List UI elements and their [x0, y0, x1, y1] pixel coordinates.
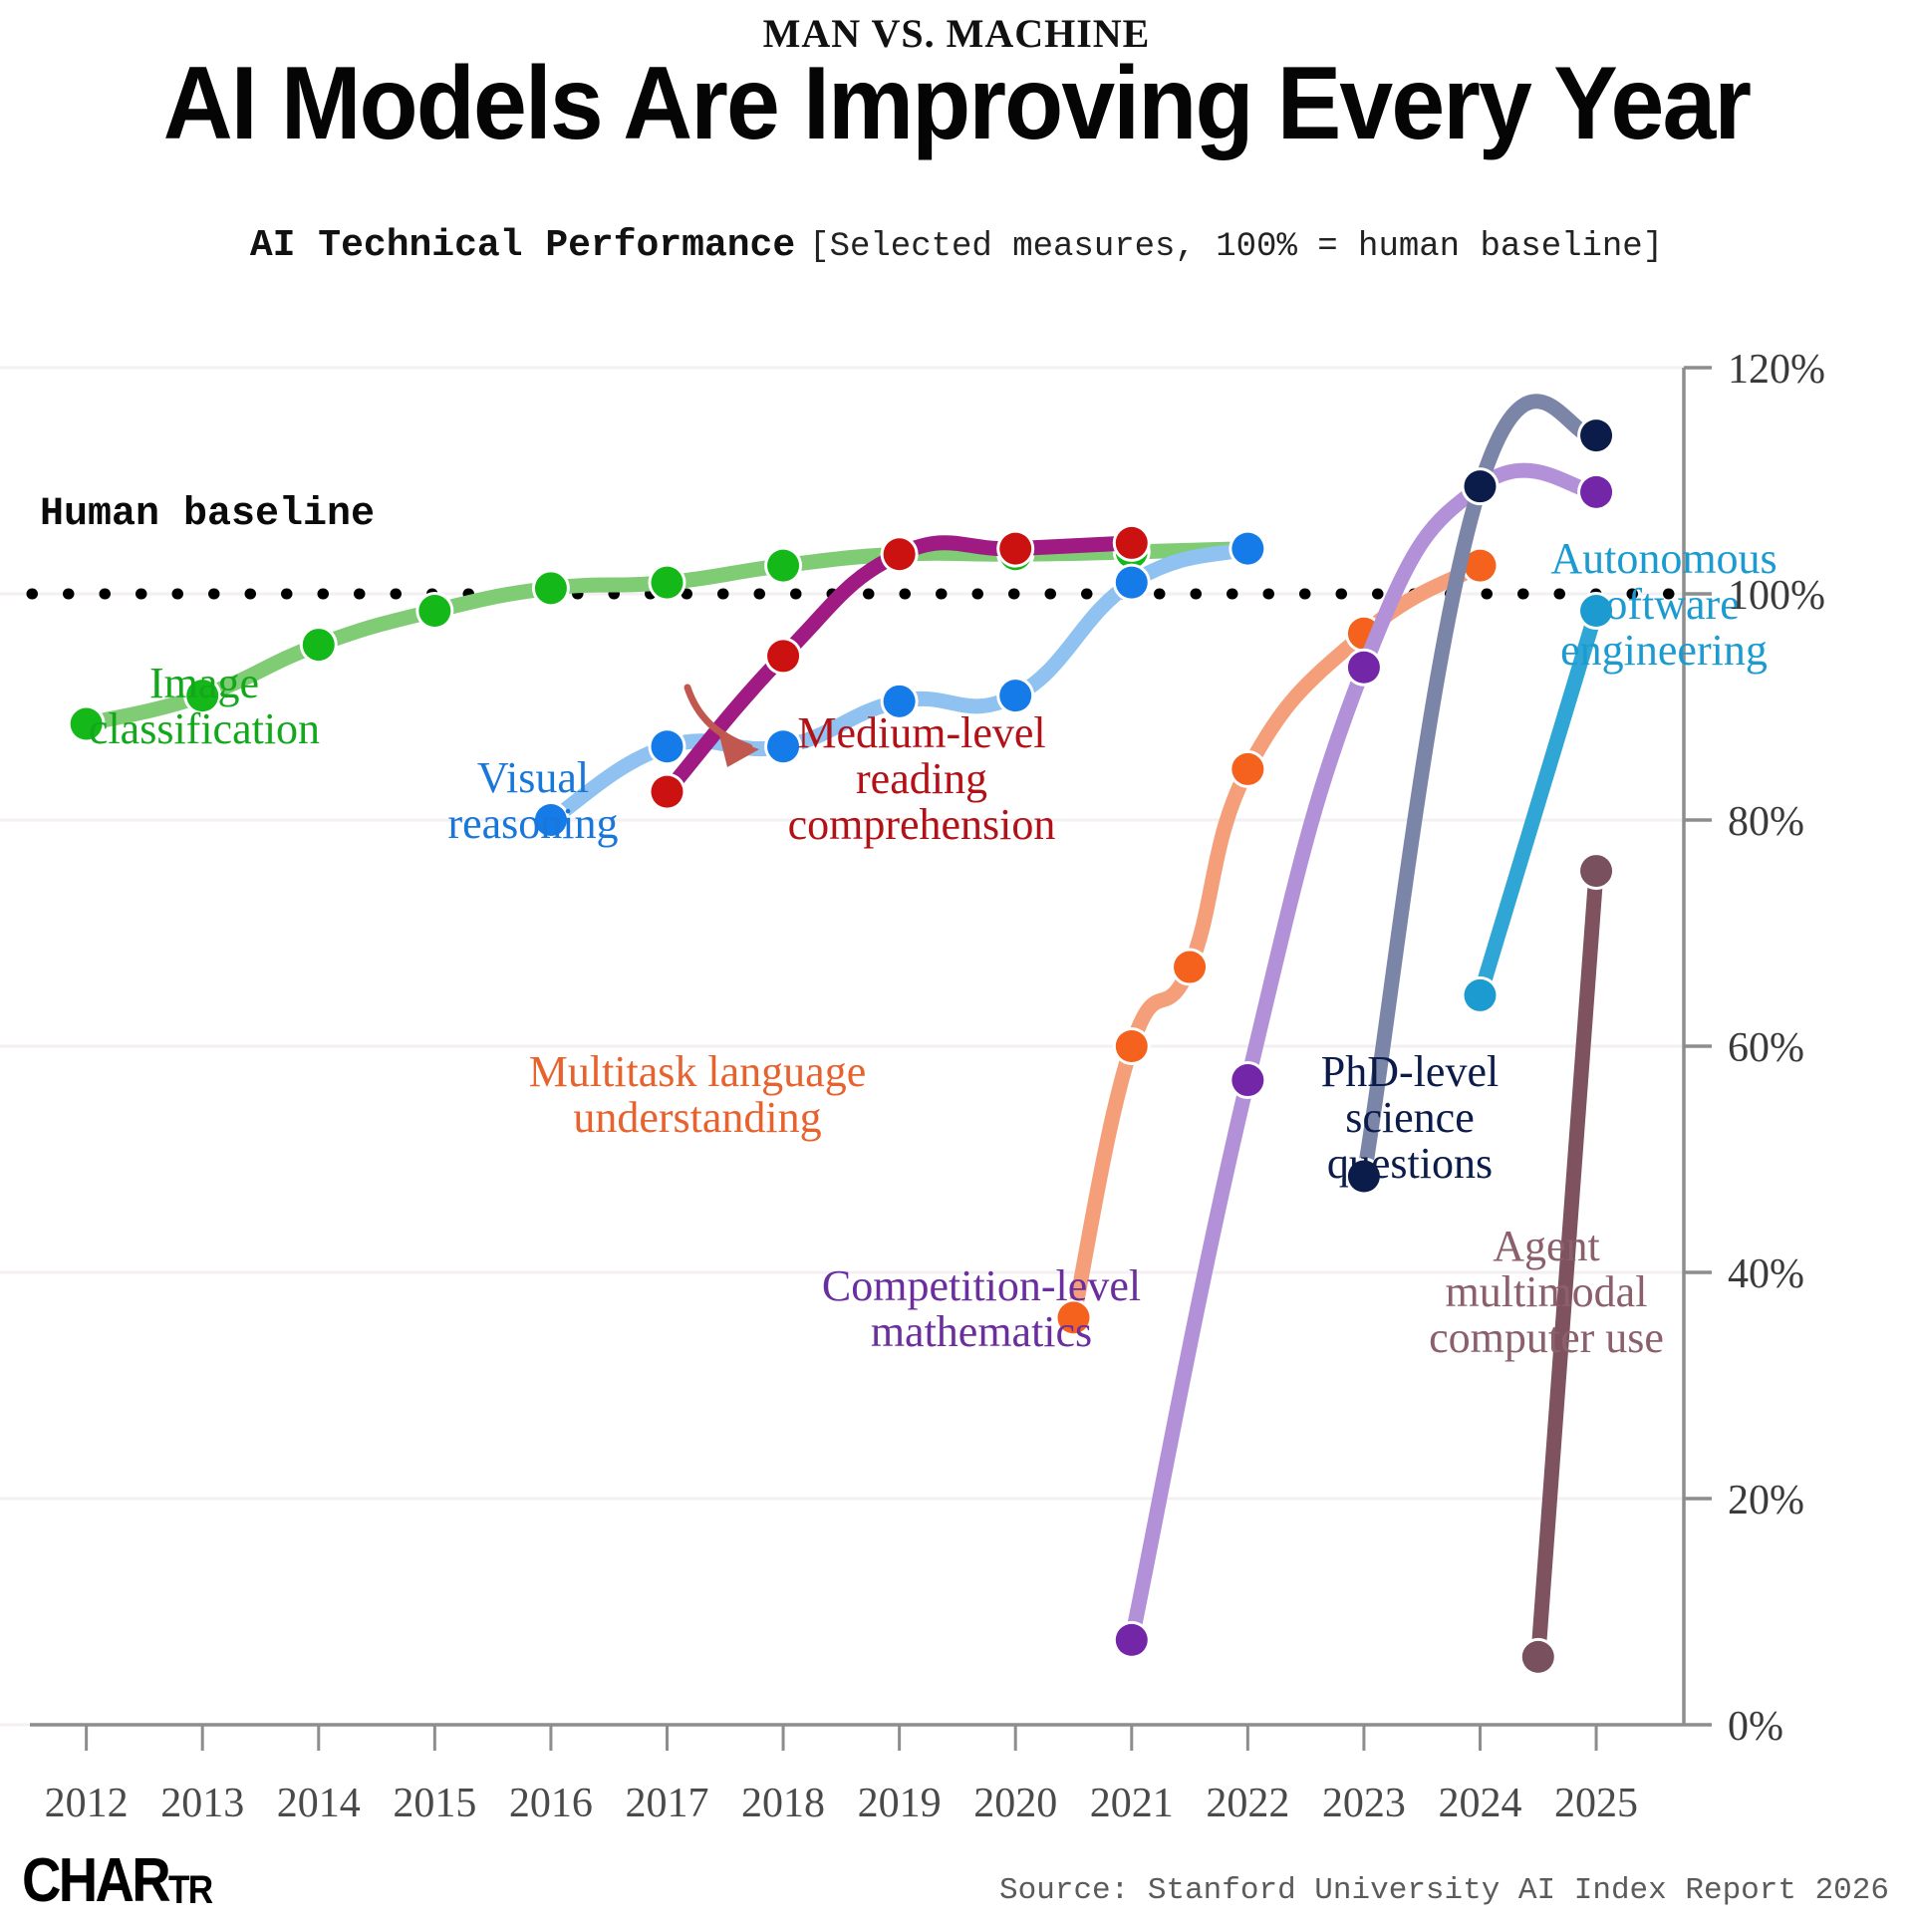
chart-area: Human baseline ImageclassificationVisual…: [0, 299, 1913, 1833]
line-chart: Human baseline ImageclassificationVisual…: [0, 299, 1913, 1853]
data-point[interactable]: [1174, 952, 1206, 983]
series-label-3: Multitask languageunderstanding: [529, 1047, 867, 1142]
y-tick-label: 80%: [1728, 799, 1804, 845]
data-point[interactable]: [767, 640, 799, 672]
data-point[interactable]: [1116, 1030, 1148, 1062]
logo-part-cha: CHA: [22, 1846, 132, 1915]
page-title: AI Models Are Improving Every Year: [67, 52, 1846, 155]
subtitle-weak: [Selected measures, 100% = human baselin…: [809, 228, 1663, 266]
x-tick-label: 2020: [973, 1781, 1057, 1826]
data-point[interactable]: [1522, 1641, 1554, 1673]
x-tick-label: 2013: [160, 1781, 244, 1826]
y-tick-label: 120%: [1728, 347, 1825, 393]
data-point[interactable]: [999, 533, 1031, 565]
y-tick-label: 100%: [1728, 573, 1825, 619]
data-point[interactable]: [767, 730, 799, 762]
series-label-5: PhD-levelsciencequestions: [1321, 1047, 1499, 1188]
data-point[interactable]: [418, 595, 450, 627]
data-point[interactable]: [1116, 567, 1148, 599]
data-point[interactable]: [1464, 470, 1496, 502]
y-tick-label: 60%: [1728, 1025, 1804, 1071]
source-note: Source: Stanford University AI Index Rep…: [999, 1873, 1889, 1908]
data-point[interactable]: [1464, 979, 1496, 1011]
subtitle-strong: AI Technical Performance: [250, 224, 795, 267]
chartr-logo: CHARTR: [22, 1845, 211, 1916]
x-tick-label: 2022: [1206, 1781, 1289, 1826]
data-point[interactable]: [1116, 527, 1148, 559]
series-label-2: Medium-levelreadingcomprehension: [788, 708, 1056, 849]
faint-gridlines: [0, 368, 1686, 1725]
x-tick-label: 2017: [625, 1781, 708, 1826]
x-tick-label: 2015: [393, 1781, 476, 1826]
data-point[interactable]: [884, 538, 916, 570]
x-tick-label: 2019: [858, 1781, 942, 1826]
subtitle-row: AI Technical Performance[Selected measur…: [0, 224, 1913, 267]
data-point[interactable]: [1116, 1624, 1148, 1656]
y-tick-label: 20%: [1728, 1478, 1804, 1523]
data-point[interactable]: [651, 567, 683, 599]
data-point[interactable]: [651, 730, 683, 762]
data-point[interactable]: [999, 680, 1031, 711]
data-point[interactable]: [303, 629, 335, 661]
series-label-0: Imageclassification: [89, 659, 320, 753]
x-tick-label: 2012: [45, 1781, 129, 1826]
data-point[interactable]: [1231, 753, 1263, 785]
data-point[interactable]: [1580, 419, 1612, 451]
data-point[interactable]: [1580, 855, 1612, 887]
x-tick-label: 2025: [1554, 1781, 1638, 1826]
data-point[interactable]: [535, 572, 567, 604]
logo-part-r: R: [132, 1846, 168, 1915]
series-label-1: Visualreasoning: [447, 753, 618, 848]
data-point[interactable]: [767, 550, 799, 582]
x-tick-label: 2014: [277, 1781, 361, 1826]
series-labels-group: ImageclassificationVisualreasoningMedium…: [89, 534, 1777, 1362]
x-tick-label: 2023: [1322, 1781, 1406, 1826]
human-baseline-label: Human baseline: [40, 492, 375, 537]
y-tick-label: 40%: [1728, 1251, 1804, 1297]
data-point[interactable]: [1348, 652, 1380, 684]
data-point[interactable]: [1231, 1064, 1263, 1096]
data-point[interactable]: [651, 776, 683, 808]
series-label-7: Agentmultimodalcomputer use: [1429, 1222, 1664, 1362]
series-label-4: Competition-levelmathematics: [822, 1261, 1141, 1356]
x-tick-label: 2021: [1090, 1781, 1174, 1826]
data-point[interactable]: [1580, 476, 1612, 508]
x-tick-label: 2016: [509, 1781, 593, 1826]
y-tick-label: 0%: [1728, 1704, 1783, 1750]
data-point[interactable]: [1231, 533, 1263, 565]
logo-part-tr: TR: [168, 1868, 211, 1912]
x-tick-label: 2018: [741, 1781, 825, 1826]
x-tick-label: 2024: [1438, 1781, 1521, 1826]
